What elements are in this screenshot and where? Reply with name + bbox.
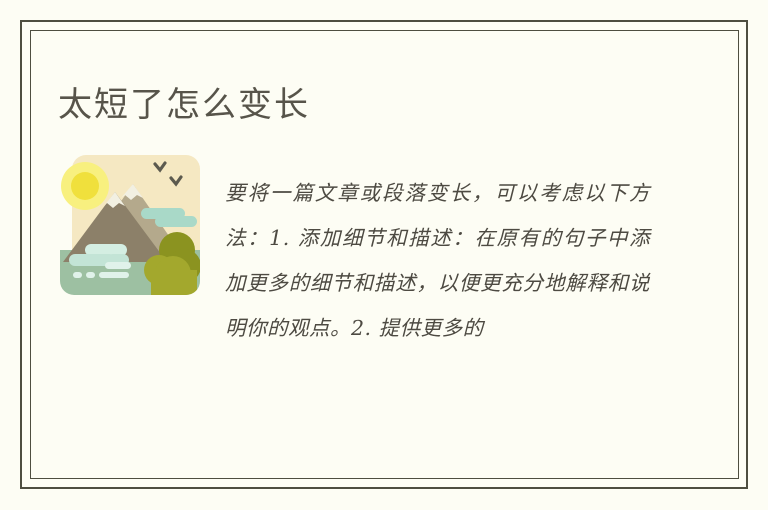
article-body-text: 要将一篇文章或段落变长，可以考虑以下方法：1. 添加细节和描述：在原有的句子中添… xyxy=(225,171,650,351)
article-content: 要将一篇文章或段落变长，可以考虑以下方法：1. 添加细节和描述：在原有的句子中添… xyxy=(55,150,655,371)
mountain-landscape-illustration xyxy=(55,150,205,300)
page-root: 太短了怎么变长 xyxy=(0,0,768,510)
landscape-icon xyxy=(55,150,205,300)
page-title: 太短了怎么变长 xyxy=(58,81,310,129)
